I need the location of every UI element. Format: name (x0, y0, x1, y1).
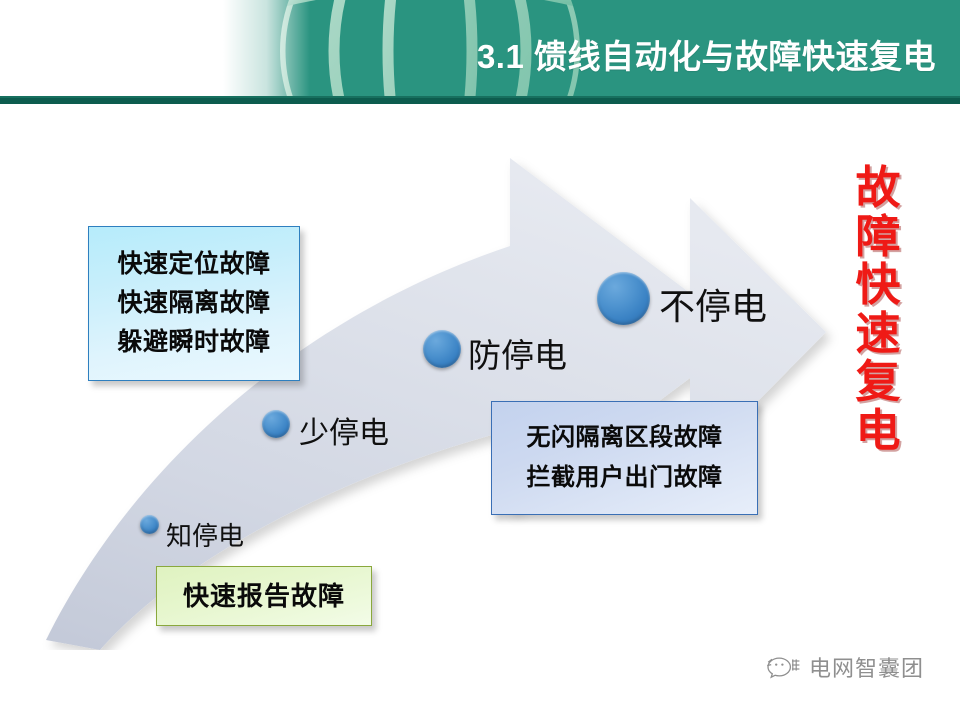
watermark: 电网智囊团 (766, 655, 924, 682)
node-label-4: 不停电 (659, 290, 767, 326)
watermark-text: 电网智囊团 (809, 658, 924, 680)
page-title: 3.1 馈线自动化与故障快速复电 (477, 40, 936, 73)
vertical-headline-char-4: 速 (855, 310, 900, 359)
vertical-headline-char-2: 障 (855, 213, 900, 262)
vertical-headline-char-6: 电 (855, 407, 900, 456)
node-label-1: 知停电 (166, 524, 244, 550)
node-label-2: 少停电 (299, 419, 389, 449)
callout-blue-line-2: 拦截用户出门故障 (527, 466, 723, 490)
node-label-3: 防停电 (468, 339, 567, 372)
wechat-logo-icon (766, 655, 800, 682)
header-divider-highlight (0, 96, 960, 98)
node-dot-2[interactable] (262, 410, 290, 438)
vertical-headline: 故 障 快 速 复 电 (847, 164, 909, 456)
callout-box-cyan[interactable]: 快速定位故障 快速隔离故障 躲避瞬时故障 (88, 226, 300, 381)
callout-box-green[interactable]: 快速报告故障 (156, 566, 372, 626)
slide-canvas: 3.1 馈线自动化与故障快速复电 知停电 少停电 防停电 不停电 快速定位故障 … (0, 0, 960, 720)
callout-cyan-line-3: 躲避瞬时故障 (117, 330, 270, 355)
header-left-fade (0, 0, 310, 97)
vertical-headline-char-5: 复 (855, 358, 900, 407)
callout-cyan-line-2: 快速隔离故障 (117, 291, 270, 316)
node-dot-4[interactable] (597, 272, 650, 325)
callout-box-blue[interactable]: 无闪隔离区段故障 拦截用户出门故障 (491, 401, 758, 515)
callout-cyan-line-1: 快速定位故障 (117, 252, 270, 277)
callout-green-line-1: 快速报告故障 (183, 583, 345, 609)
slide-header: 3.1 馈线自动化与故障快速复电 (0, 0, 960, 97)
vertical-headline-char-1: 故 (855, 164, 900, 213)
vertical-headline-char-3: 快 (855, 261, 900, 310)
callout-blue-line-1: 无闪隔离区段故障 (527, 426, 723, 450)
node-dot-3[interactable] (423, 330, 461, 368)
node-dot-1[interactable] (140, 515, 159, 534)
